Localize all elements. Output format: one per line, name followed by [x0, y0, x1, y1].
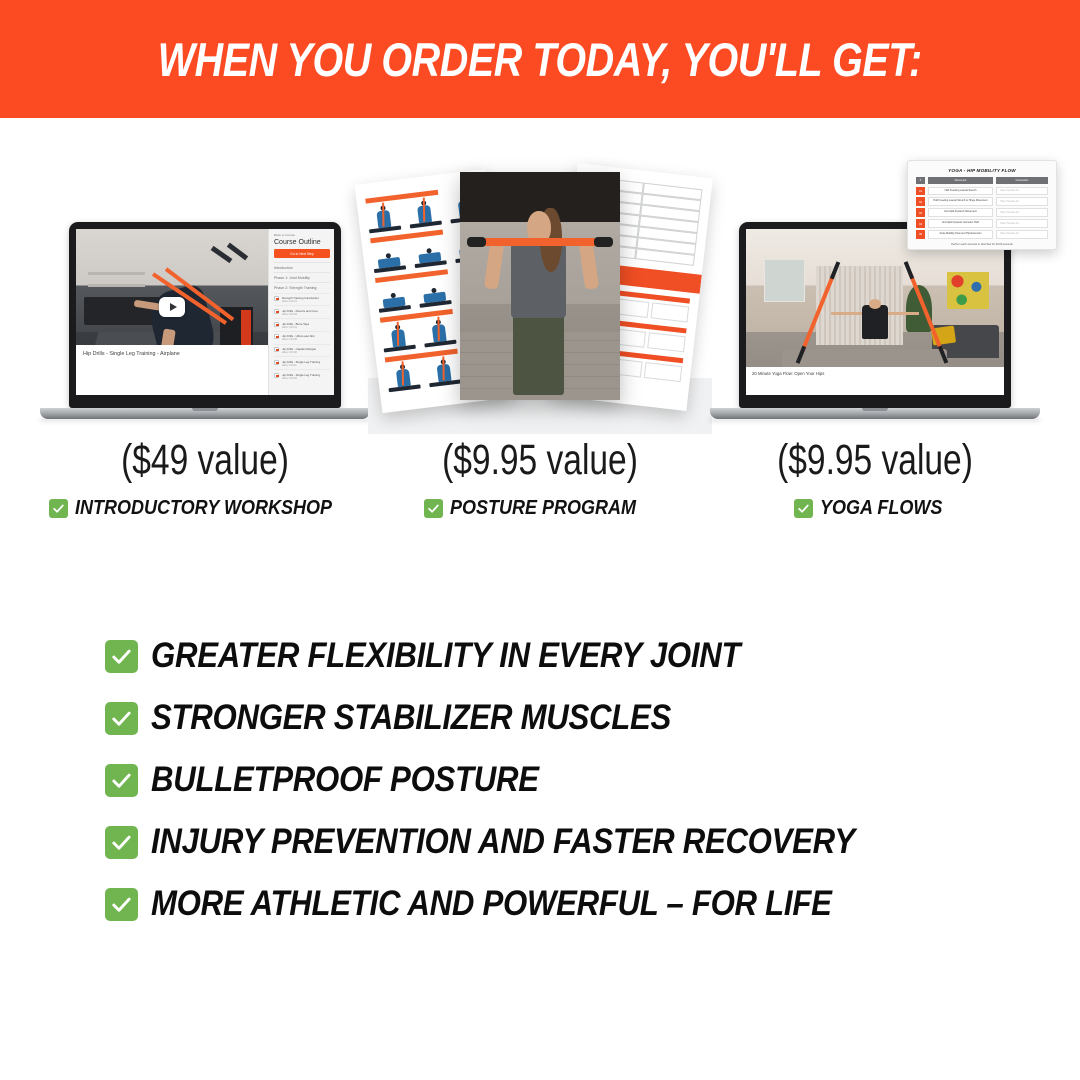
check-icon — [105, 826, 138, 859]
list-item[interactable]: Hip Drills - Ultra Lean Abs Video 1:03:4… — [274, 331, 330, 344]
product-label-row: POSTURE PROGRAM — [360, 497, 720, 520]
product-label-row: YOGA FLOWS — [695, 497, 1055, 520]
row-movement: Glute Mobility Flow and Hip Extension — [928, 230, 993, 239]
next-step-button[interactable]: Go to Next Step — [274, 249, 330, 258]
benefit-text: INJURY PREVENTION AND FASTER RECOVERY — [151, 822, 855, 862]
check-icon — [794, 499, 813, 518]
gym-rack-shape-2 — [88, 284, 146, 287]
table-row: 02 Half Kneeling Lateral Stretch to Hing… — [916, 197, 1048, 206]
list-item[interactable]: Hip Drills - Captain Morgan Video 1:03:3… — [274, 344, 330, 357]
table-row: 04 Anti-Split Dynamic Isometric Hold Vid… — [916, 219, 1048, 228]
lesson-meta: Video 1:03:54 — [282, 377, 321, 380]
athlete-figure — [862, 305, 888, 338]
overlay-card-footer: Perform each exercise in slow flow for 3… — [916, 243, 1048, 246]
exercise-cell — [384, 361, 423, 392]
table-row: 05 Glute Mobility Flow and Hip Extension… — [916, 230, 1048, 239]
video-caption-bar: 20 Minute Yoga Flow: Open Your Hips — [746, 367, 1004, 395]
video-icon — [274, 322, 279, 327]
exercise-cell — [415, 277, 454, 308]
lesson-meta: Video 1:03:44 — [282, 313, 318, 316]
athlete-legs — [513, 309, 564, 396]
row-connection[interactable]: Video Tutorial Link — [996, 230, 1048, 239]
exercise-floor — [410, 221, 442, 229]
product-posture-program: CALENDAR — [360, 150, 720, 440]
exercise-cell — [405, 197, 444, 228]
video-caption: 20 Minute Yoga Flow: Open Your Hips — [752, 371, 824, 376]
exercise-cell — [369, 242, 408, 273]
page-title: WHEN YOU ORDER TODAY, YOU'LL GET: — [158, 32, 922, 87]
calendar-day — [647, 332, 686, 352]
video-player[interactable]: 2:14 / 20:13 — [746, 229, 1004, 395]
table-row: 01 Half Kneeling Lateral Stretch Video T… — [916, 187, 1048, 196]
video-icon — [274, 334, 279, 339]
sidebar-section-introduction[interactable]: Introduction — [274, 262, 330, 272]
exercise-floor — [424, 340, 456, 348]
list-item: BULLETPROOF POSTURE — [105, 760, 1025, 800]
exercise-stick — [402, 361, 404, 385]
product-label: POSTURE PROGRAM — [450, 497, 636, 520]
sidebar-section-phase-1[interactable]: Phase 1: Joint Mobility — [274, 272, 330, 282]
list-item: GREATER FLEXIBILITY IN EVERY JOINT — [105, 636, 1025, 676]
value-text: ($9.95 value) — [400, 438, 681, 483]
exercise-cell — [364, 202, 403, 233]
laptop-screen: Hip Drills - Single Leg Training - Airpl… — [76, 229, 334, 395]
exercise-floor — [429, 379, 461, 387]
plyo-box-stripe — [241, 310, 251, 345]
play-triangle — [170, 303, 177, 311]
value-text: ($9.95 value) — [735, 438, 1016, 483]
row-connection[interactable]: Video Tutorial Link — [996, 197, 1048, 206]
check-icon — [105, 702, 138, 735]
product-caption-posture-program: ($9.95 value) POSTURE PROGRAM — [360, 438, 720, 520]
list-item[interactable]: Strength Training Introduction Video 1:0… — [274, 293, 330, 306]
course-outline-sidebar: Back to Course Course Outline Go to Next… — [268, 229, 334, 395]
exercise-cell — [374, 282, 413, 313]
lesson-title: Hip Drills - Bone Taps — [282, 322, 310, 326]
check-icon — [424, 499, 443, 518]
video-icon — [274, 347, 279, 352]
video-icon — [274, 309, 279, 314]
product-label: YOGA FLOWS — [820, 497, 942, 520]
lesson-meta: Video 1:03:41 — [282, 326, 310, 329]
check-icon — [49, 499, 68, 518]
exercise-stick — [382, 203, 384, 227]
calendar-day — [650, 302, 689, 322]
laptop-base — [710, 408, 1040, 419]
check-icon — [105, 888, 138, 921]
video-icon — [274, 373, 279, 378]
product-yoga-flows: 2:14 / 20:13 — [695, 150, 1055, 440]
mirror-shape — [764, 259, 805, 302]
back-to-course-link[interactable]: Back to Course — [274, 233, 330, 237]
video-caption-bar: Hip Drills - Single Leg Training - Airpl… — [76, 345, 268, 395]
gym-rack-shape — [88, 272, 146, 275]
column-header-num: # — [916, 177, 925, 184]
benefit-text: BULLETPROOF POSTURE — [151, 760, 539, 800]
video-caption: Hip Drills - Single Leg Training - Airpl… — [83, 351, 180, 357]
exercise-cell — [424, 356, 463, 387]
row-movement: Half Kneeling Lateral Stretch to Hinge M… — [928, 197, 993, 206]
laptop-shadow — [710, 418, 1040, 422]
table-row: 03 Anti-Split Dynamic Movement Video Tut… — [916, 208, 1048, 217]
row-connection[interactable]: Video Tutorial Link — [996, 187, 1048, 196]
row-number: 03 — [916, 208, 925, 217]
play-icon[interactable] — [159, 297, 185, 317]
list-item: INJURY PREVENTION AND FASTER RECOVERY — [105, 822, 1025, 862]
row-number: 04 — [916, 219, 925, 228]
laptop-mockup-yoga: 2:14 / 20:13 — [739, 222, 1011, 419]
lesson-meta: Video 1:03:46 — [282, 338, 315, 341]
laptop-base — [40, 408, 370, 419]
video-icon — [274, 360, 279, 365]
product-label-row: INTRODUCTORY WORKSHOP — [25, 497, 385, 520]
check-icon — [105, 640, 138, 673]
sidebar-section-phase-2[interactable]: Phase 2: Strength Training — [274, 282, 330, 292]
row-connection[interactable]: Video Tutorial Link — [996, 208, 1048, 217]
product-caption-yoga-flows: ($9.95 value) YOGA FLOWS — [695, 438, 1055, 520]
exercise-cell — [420, 317, 459, 348]
row-number: 02 — [916, 197, 925, 206]
product-caption-introductory-workshop: ($49 value) INTRODUCTORY WORKSHOP — [25, 438, 385, 520]
row-movement: Anti-Split Dynamic Isometric Hold — [928, 219, 993, 228]
exercise-stick — [437, 317, 439, 341]
list-item[interactable]: Hip Drills - Single Leg Training Video 1… — [274, 369, 330, 382]
benefit-text: MORE ATHLETIC AND POWERFUL – FOR LIFE — [151, 884, 832, 924]
check-icon — [105, 764, 138, 797]
lesson-meta: Video 1:03:11 — [282, 364, 321, 367]
column-header-connection: Connection — [996, 177, 1048, 184]
promo-page: WHEN YOU ORDER TODAY, YOU'LL GET: — [0, 0, 1080, 1080]
exercise-cell — [379, 322, 418, 353]
product-introductory-workshop: Hip Drills - Single Leg Training - Airpl… — [25, 150, 385, 440]
wall-art-shape — [947, 272, 988, 309]
exercise-stick — [423, 198, 425, 222]
orange-training-bar — [473, 238, 607, 246]
exercise-stick — [442, 356, 444, 380]
exercise-floor — [389, 384, 421, 392]
row-number: 01 — [916, 187, 925, 196]
video-player[interactable]: Hip Drills - Single Leg Training - Airpl… — [76, 229, 268, 395]
list-item: MORE ATHLETIC AND POWERFUL – FOR LIFE — [105, 884, 1025, 924]
row-number: 05 — [916, 230, 925, 239]
yoga-flow-overlay-card: YOGA - HIP MOBILITY FLOW # Movement Conn… — [907, 160, 1057, 250]
list-item: STRONGER STABILIZER MUSCLES — [105, 698, 1025, 738]
laptop-shadow — [40, 418, 370, 422]
list-item[interactable]: Hip Drills - Single Leg Training Video 1… — [274, 356, 330, 369]
video-icon — [274, 296, 279, 301]
value-text: ($49 value) — [65, 438, 346, 483]
laptop-screen: 2:14 / 20:13 — [746, 229, 1004, 395]
row-movement: Anti-Split Dynamic Movement — [928, 208, 993, 217]
laptop-mockup-workshop: Hip Drills - Single Leg Training - Airpl… — [69, 222, 341, 419]
benefit-text: GREATER FLEXIBILITY IN EVERY JOINT — [151, 636, 740, 676]
product-label: INTRODUCTORY WORKSHOP — [75, 497, 332, 520]
laptop-lid: Hip Drills - Single Leg Training - Airpl… — [69, 222, 341, 408]
lesson-meta: Video 1:03:21 — [282, 300, 320, 303]
exercise-stick — [397, 322, 399, 346]
calendar-day — [643, 362, 682, 382]
row-movement: Half Kneeling Lateral Stretch — [928, 187, 993, 196]
overlay-card-title: YOGA - HIP MOBILITY FLOW — [916, 168, 1048, 173]
column-header-movement: Movement — [928, 177, 993, 184]
row-connection[interactable]: Video Tutorial Link — [996, 219, 1048, 228]
exercise-floor — [369, 226, 401, 234]
header-banner: WHEN YOU ORDER TODAY, YOU'LL GET: — [0, 0, 1080, 118]
list-item[interactable]: Hip Drills - Flexors and Core Video 1:03… — [274, 305, 330, 318]
course-outline-title: Course Outline — [274, 239, 330, 246]
athlete-head — [869, 299, 882, 309]
exercise-cell — [410, 237, 449, 268]
athlete-photo-sheet — [460, 172, 620, 400]
benefit-text: STRONGER STABILIZER MUSCLES — [151, 698, 671, 738]
printable-sheets-mockup: CALENDAR — [360, 150, 720, 440]
benefits-list: GREATER FLEXIBILITY IN EVERY JOINT STRON… — [105, 636, 1025, 946]
table-header-row: # Movement Connection — [916, 177, 1048, 184]
list-item[interactable]: Hip Drills - Bone Taps Video 1:03:41 — [274, 318, 330, 331]
lesson-meta: Video 1:03:30 — [282, 351, 317, 354]
exercise-floor — [384, 345, 416, 353]
